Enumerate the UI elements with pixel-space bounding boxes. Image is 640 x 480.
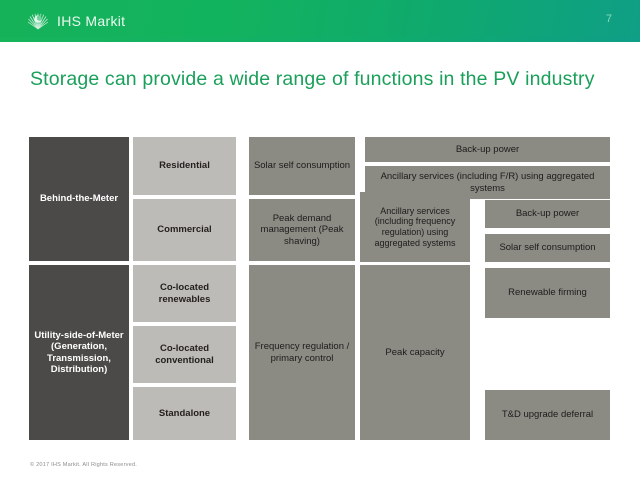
function-box-solar-self-consumption-right: Solar self consumption xyxy=(485,234,610,262)
function-box-peak-demand-management: Peak demand management (Peak shaving) xyxy=(249,199,355,261)
storage-functions-diagram: Behind-the-Meter Utility-side-of-Meter (… xyxy=(0,0,640,480)
footer-copyright: © 2017 IHS Markit. All Rights Reserved. xyxy=(30,462,137,468)
function-label: Solar self consumption xyxy=(254,160,350,171)
segment-label: Standalone xyxy=(159,408,210,419)
function-label: Solar self consumption xyxy=(499,242,595,253)
function-label: Ancillary services (including frequency … xyxy=(364,206,466,248)
segment-label: Commercial xyxy=(157,224,211,235)
segment-box-residential: Residential xyxy=(133,137,236,195)
function-label: Back-up power xyxy=(516,208,579,219)
category-box-utility-side-of-meter: Utility-side-of-Meter (Generation, Trans… xyxy=(29,265,129,440)
category-label: Utility-side-of-Meter (Generation, Trans… xyxy=(33,330,125,375)
function-box-frequency-regulation: Frequency regulation / primary control xyxy=(249,265,355,440)
function-label: Peak demand management (Peak shaving) xyxy=(253,213,351,247)
function-box-peak-capacity: Peak capacity xyxy=(360,265,470,440)
function-label: Ancillary services (including F/R) using… xyxy=(369,171,606,193)
function-box-td-upgrade-deferral: T&D upgrade deferral xyxy=(485,390,610,440)
function-label: T&D upgrade deferral xyxy=(502,409,593,420)
function-label: Peak capacity xyxy=(385,347,444,358)
function-box-renewable-firming: Renewable firming xyxy=(485,268,610,318)
segment-box-co-located-renewables: Co-located renewables xyxy=(133,265,236,322)
function-box-solar-self-consumption: Solar self consumption xyxy=(249,137,355,195)
function-box-ancillary-services-fr-wide: Ancillary services (including F/R) using… xyxy=(365,166,610,199)
category-label: Behind-the-Meter xyxy=(40,193,118,204)
segment-label: Co-located renewables xyxy=(137,282,232,304)
function-box-back-up-power-wide: Back-up power xyxy=(365,137,610,162)
segment-box-commercial: Commercial xyxy=(133,199,236,261)
segment-box-standalone: Standalone xyxy=(133,387,236,440)
function-label: Frequency regulation / primary control xyxy=(253,341,351,363)
segment-label: Residential xyxy=(159,160,210,171)
segment-label: Co-located conventional xyxy=(137,343,232,365)
function-label: Renewable firming xyxy=(508,287,587,298)
function-box-back-up-power: Back-up power xyxy=(485,200,610,228)
function-box-ancillary-services-aggregated: Ancillary services (including frequency … xyxy=(360,192,470,262)
segment-box-co-located-conventional: Co-located conventional xyxy=(133,326,236,383)
function-label: Back-up power xyxy=(456,144,519,155)
category-box-behind-the-meter: Behind-the-Meter xyxy=(29,137,129,261)
